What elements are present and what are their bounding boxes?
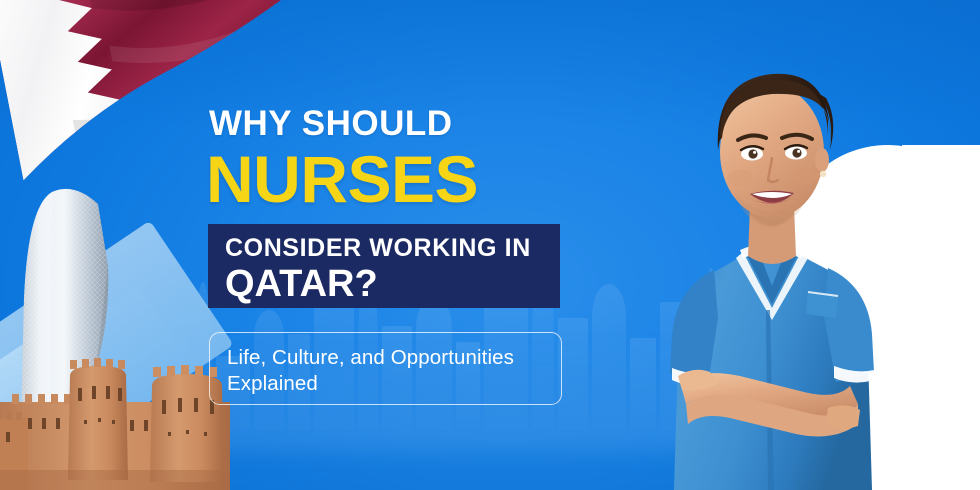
qatar-nurses-banner: WHY SHOULD NURSES CONSIDER WORKING IN QA… — [0, 0, 980, 490]
navy-headline-box: CONSIDER WORKING IN QATAR? — [208, 224, 560, 308]
navy-box-line-1: CONSIDER WORKING IN — [225, 235, 560, 262]
subtitle-line-1: Life, Culture, and Opportunities — [227, 345, 545, 371]
headline-line-1: WHY SHOULD — [209, 104, 629, 144]
nurse-photo — [622, 0, 922, 490]
headline-block: WHY SHOULD NURSES — [209, 104, 629, 212]
nurse-hand-right — [826, 405, 860, 428]
navy-box-line-2-qatar: QATAR? — [225, 263, 560, 305]
subtitle-line-2: Explained — [227, 371, 545, 397]
subtitle-box: Life, Culture, and Opportunities Explain… — [209, 332, 562, 405]
headline-line-2-nurses: NURSES — [206, 146, 629, 212]
earring — [820, 171, 826, 177]
